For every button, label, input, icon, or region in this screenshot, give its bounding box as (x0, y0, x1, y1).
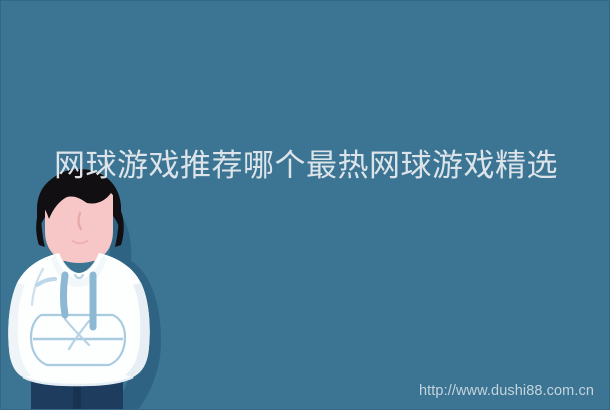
site-watermark: http://www.dushi88.com.cn (419, 383, 594, 400)
article-cover-banner: 网球游戏推荐哪个最热网球游戏精选 http://www.dushi88.com.… (0, 0, 610, 410)
hoodie (8, 253, 149, 385)
drawstring-left (64, 275, 66, 315)
cover-title: 网球游戏推荐哪个最热网球游戏精选 (1, 147, 610, 185)
person-illustration (1, 169, 171, 410)
